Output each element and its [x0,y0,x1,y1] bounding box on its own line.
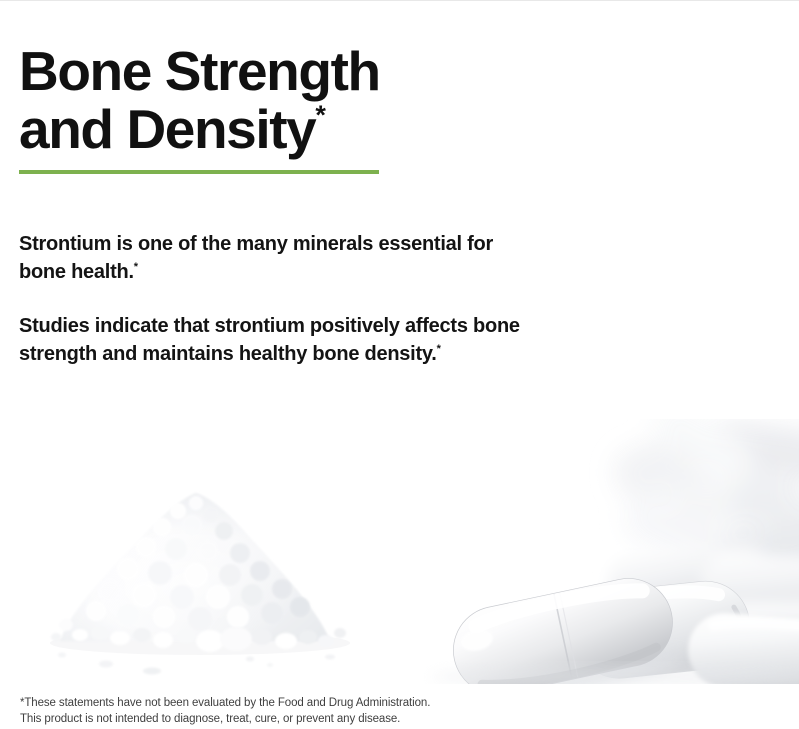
benefit-paragraph-2-text: Studies indicate that strontium positive… [19,315,520,365]
benefit-paragraph-1: Strontium is one of the many minerals es… [19,230,539,286]
product-benefit-panel: Bone Strength and Density* Strontium is … [0,0,799,729]
paragraph-1-footnote-marker: * [134,261,138,273]
benefit-copy: Strontium is one of the many minerals es… [19,230,539,368]
page-title-line-2-text: and Density [19,98,315,160]
disclaimer-line-2: This product is not intended to diagnose… [20,711,620,727]
page-title-line-1: Bone Strength [19,42,639,100]
benefit-paragraph-2: Studies indicate that strontium positive… [19,312,539,368]
page-title: Bone Strength and Density* [19,42,639,158]
product-imagery [0,419,799,684]
benefit-paragraph-1-text: Strontium is one of the many minerals es… [19,233,493,283]
disclaimer-line-1: *These statements have not been evaluate… [20,695,620,711]
fda-disclaimer: *These statements have not been evaluate… [20,695,620,727]
paragraph-2-footnote-marker: * [437,343,441,355]
green-divider [19,170,379,174]
title-footnote-marker: * [315,100,326,130]
page-title-line-2: and Density* [19,100,639,158]
